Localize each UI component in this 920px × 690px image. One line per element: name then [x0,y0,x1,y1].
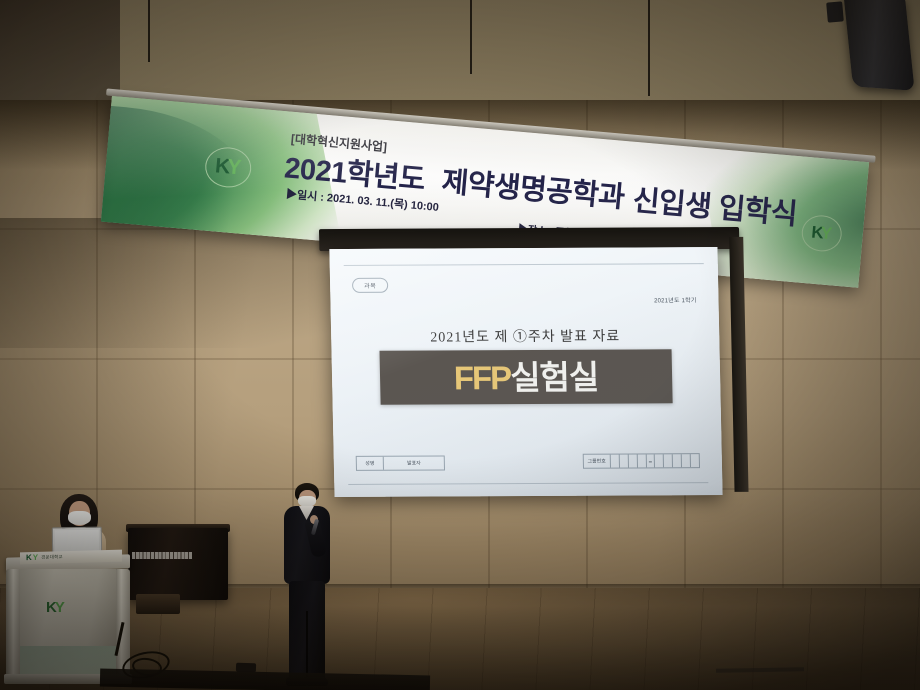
hanging-cable-1 [470,0,472,74]
photo-scene: K Y K Y [대학혁신지원사업] 2021학년도 제약생명공학과 신입생 입… [0,0,920,690]
slide-subject-pill: 과목 [352,278,388,293]
projection-screen: 과목 2021년도 1학기 2021년도 제 ①주차 발표 자료 FFP 실험실… [319,227,745,519]
slide-id-box [629,454,638,467]
slide-title-korean: 실험실 [510,360,599,393]
ceiling-speaker-small-icon [826,1,844,22]
slide-semester-tag: 2021년도 1학기 [654,295,697,304]
slide-id-box [638,454,647,467]
slide-title-latin: FFP [454,361,511,394]
slide-id-box [664,454,673,467]
slide-id-label: 그룹번호 [583,455,611,468]
piano-keys [132,552,192,559]
slide-id-dash [647,454,655,467]
ky-logo-ring [204,145,253,189]
banner-ky-logo-left: K Y [200,144,255,190]
slide-id-box [655,454,664,467]
slide-footer-cell-name: 성명 [357,457,384,470]
podium-nameplate-text: 경운대학교 [41,554,63,561]
slide-id-box [673,454,682,467]
slide-footer-cell-presenter: 발표자 [384,456,444,469]
banner-ky-logo-right: K Y [797,212,846,254]
slide-footer-table: 성명 발표자 [356,455,445,470]
ceiling-speaker-icon [843,0,914,91]
podium-nameplate-k: K [26,554,32,562]
slide-title-bar: FFP 실험실 [380,349,673,405]
slide-id-box [620,454,629,467]
slide-top-rule [344,263,704,266]
podium-logo-y: Y [55,600,65,615]
slide-bottom-rule [348,482,708,485]
ky-logo-ring-right [800,214,843,253]
upright-piano [128,528,236,614]
standing-presenter [278,483,336,690]
banner-title-dept: 제약생명공학과 [440,158,626,216]
presenter-leg-split [306,611,308,677]
slide-id-box [691,454,699,467]
face-mask-icon [68,511,91,525]
podium-front-logo: K Y [46,600,65,615]
slide-id-table: 그룹번호 [582,453,700,469]
slide-heading: 2021년도 제 ①주차 발표 자료 [331,325,719,347]
podium-nameplate-y: Y [33,554,38,562]
piano-bench [136,594,180,614]
piano-body [128,528,228,600]
hanging-cable-2 [648,0,650,96]
slide-id-box [611,455,620,468]
presentation-slide: 과목 2021년도 1학기 2021년도 제 ①주차 발표 자료 FFP 실험실… [329,247,722,497]
slide-id-box [682,454,691,467]
screen-surface: 과목 2021년도 1학기 2021년도 제 ①주차 발표 자료 FFP 실험실… [329,247,722,497]
hanging-cable-3 [148,0,150,62]
